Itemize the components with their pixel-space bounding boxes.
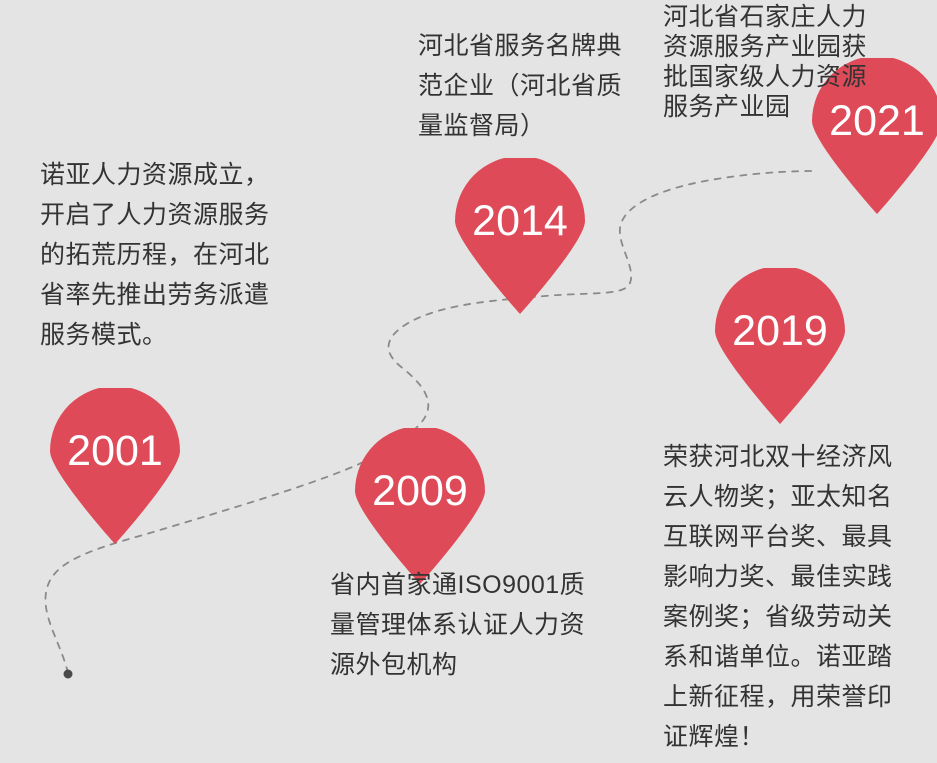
milestone-description-2009: 省内首家通ISO9001质量管理体系认证人力资源外包机构 <box>330 565 610 685</box>
milestone-year-2009: 2009 <box>355 466 485 516</box>
milestone-year-2001: 2001 <box>50 426 180 476</box>
timeline-infographic: 诺亚人力资源成立，开启了人力资源服务的拓荒历程，在河北省率先推出劳务派遣服务模式… <box>0 0 937 763</box>
milestone-description-2014: 河北省服务名牌典范企业（河北省质量监督局） <box>418 26 643 146</box>
connector-start-dot <box>64 670 73 679</box>
milestone-pin-2009[interactable]: 2009 <box>355 428 485 584</box>
milestone-pin-2019[interactable]: 2019 <box>715 268 845 424</box>
milestone-description-2021: 河北省石家庄人力资源服务产业园获批国家级人力资源服务产业园 <box>663 2 883 122</box>
milestone-pin-2001[interactable]: 2001 <box>50 388 180 544</box>
milestone-year-2019: 2019 <box>715 306 845 356</box>
milestone-description-2019: 荣获河北双十经济风云人物奖；亚太知名互联网平台奖、最具影响力奖、最佳实践案例奖；… <box>663 437 913 757</box>
milestone-pin-2014[interactable]: 2014 <box>455 158 585 314</box>
milestone-description-2001: 诺亚人力资源成立，开启了人力资源服务的拓荒历程，在河北省率先推出劳务派遣服务模式… <box>40 155 290 355</box>
milestone-year-2014: 2014 <box>455 196 585 246</box>
